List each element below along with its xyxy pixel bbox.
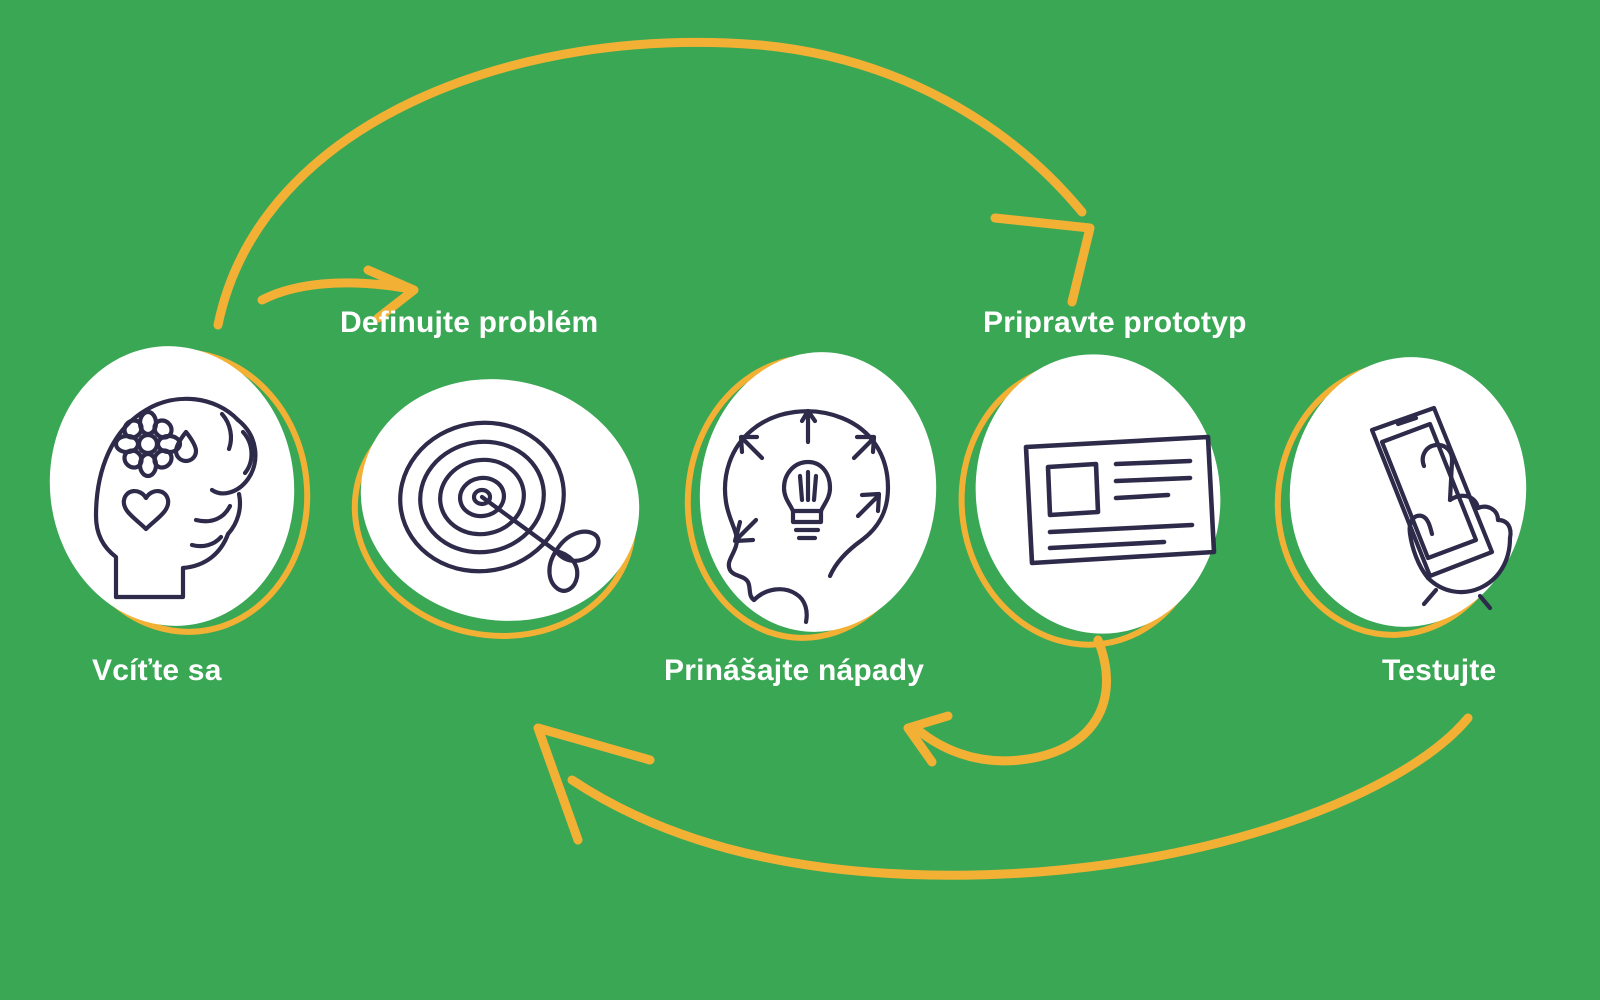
step-node-ideate[interactable] <box>676 342 948 648</box>
arrow-prototype-to-ideate <box>908 640 1107 762</box>
step-label-prototype: Pripravte prototyp <box>983 306 1247 340</box>
bubble-fill-define <box>338 354 662 647</box>
step-node-empathize[interactable] <box>36 334 321 644</box>
diagram-canvas: Vcíťte sa Definujte problém Prinášajte n… <box>0 0 1600 1000</box>
bubble-fill-empathize <box>36 334 308 638</box>
bubble-fill-ideate <box>688 342 948 642</box>
bubble-fill-test <box>1277 345 1540 638</box>
step-label-test: Testujte <box>1382 654 1496 688</box>
diagram-illustration <box>0 0 1600 1000</box>
step-node-define[interactable] <box>332 354 662 662</box>
step-node-test[interactable] <box>1265 345 1540 646</box>
step-label-empathize: Vcíťte sa <box>92 654 222 688</box>
step-label-ideate: Prinášajte nápady <box>664 654 924 688</box>
arrow-test-to-empathize <box>538 718 1468 875</box>
step-label-define: Definujte problém <box>340 306 598 340</box>
step-node-prototype[interactable] <box>944 338 1239 660</box>
